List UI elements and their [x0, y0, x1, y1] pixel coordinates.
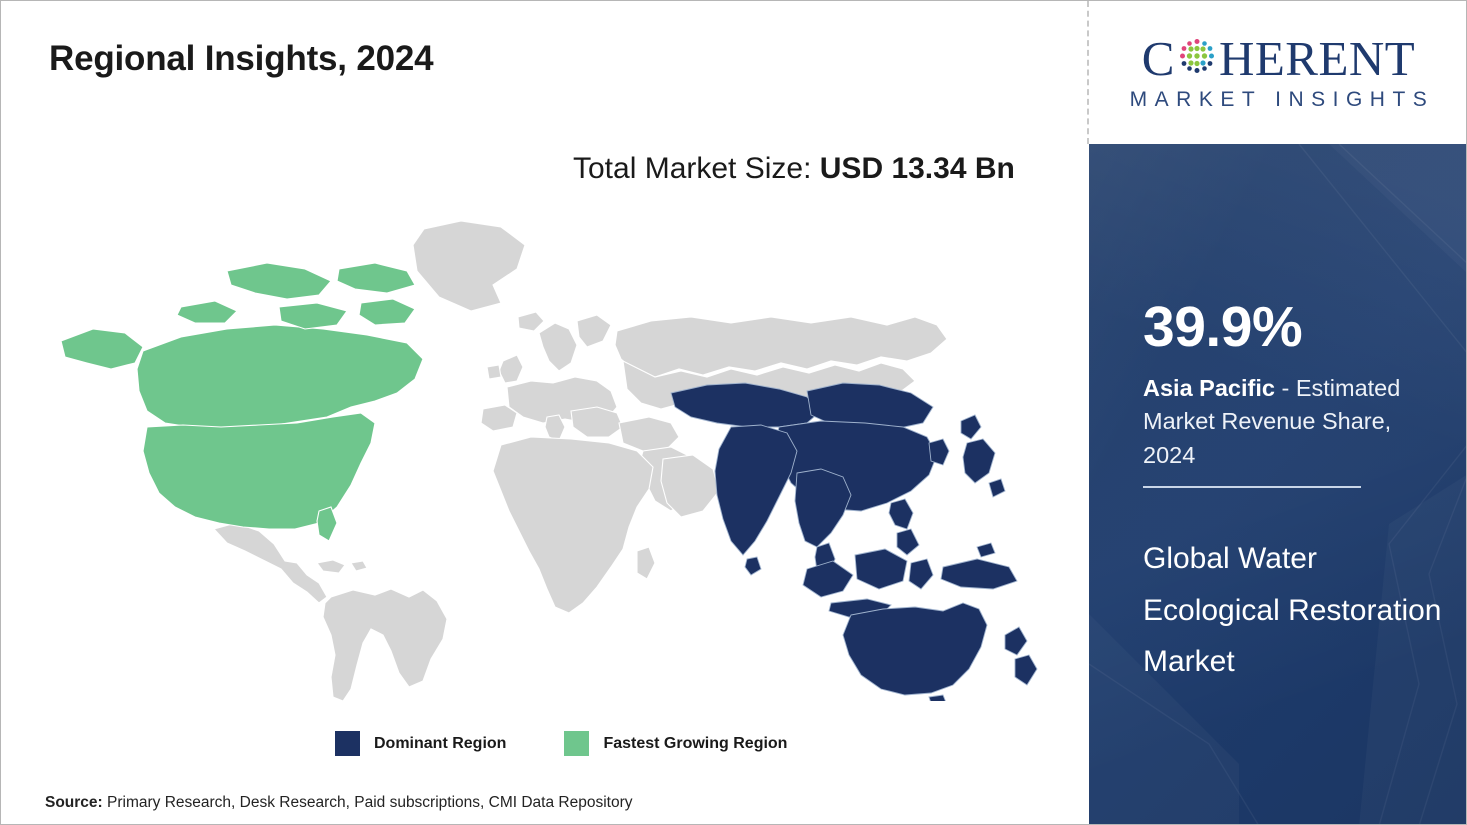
market-share-value: 39.9%	[1143, 299, 1302, 356]
map-region-north-america	[61, 263, 423, 541]
source-label: Source:	[45, 794, 103, 811]
legend-swatch-fastest-growing-icon	[564, 731, 589, 756]
map-region-asia-pacific	[671, 383, 1037, 701]
legend-label-fastest-growing: Fastest Growing Region	[603, 735, 787, 753]
market-size-value: USD 13.34 Bn	[820, 152, 1015, 185]
market-size-label: Total Market Size:	[573, 152, 820, 185]
legend-item-fastest-growing-region: Fastest Growing Region	[564, 731, 787, 756]
brand-logo: C	[1089, 1, 1467, 144]
market-share-region: Asia Pacific	[1143, 375, 1275, 401]
logo-subtext: MARKET INSIGHTS	[1123, 88, 1435, 112]
total-market-size: Total Market Size: USD 13.34 Bn	[573, 147, 1043, 191]
market-share-description: Asia Pacific - Estimated Market Revenue …	[1143, 372, 1433, 472]
source-line: Source: Primary Research, Desk Research,…	[45, 794, 633, 812]
world-map	[31, 211, 1051, 701]
market-name: Global Water Ecological Restoration Mark…	[1143, 533, 1443, 688]
panel-texture	[1089, 144, 1467, 825]
panel-divider	[1143, 486, 1361, 488]
legend-item-dominant-region: Dominant Region	[335, 731, 506, 756]
logo-letters-herent: HERENT	[1219, 34, 1415, 83]
map-legend: Dominant Region Fastest Growing Region	[335, 731, 787, 756]
world-map-container	[31, 211, 1051, 701]
logo-wordmark: C	[1142, 33, 1415, 83]
logo-letter-c: C	[1142, 34, 1175, 83]
regional-insights-infographic: Regional Insights, 2024 Total Market Siz…	[0, 0, 1467, 825]
legend-label-dominant: Dominant Region	[374, 735, 506, 753]
source-text: Primary Research, Desk Research, Paid su…	[103, 794, 633, 811]
left-content-panel: Regional Insights, 2024 Total Market Siz…	[1, 1, 1087, 825]
highlight-panel: 39.9% Asia Pacific - Estimated Market Re…	[1089, 144, 1467, 825]
legend-swatch-dominant-icon	[335, 731, 360, 756]
page-title: Regional Insights, 2024	[49, 39, 433, 79]
globe-dots-icon	[1176, 35, 1218, 85]
